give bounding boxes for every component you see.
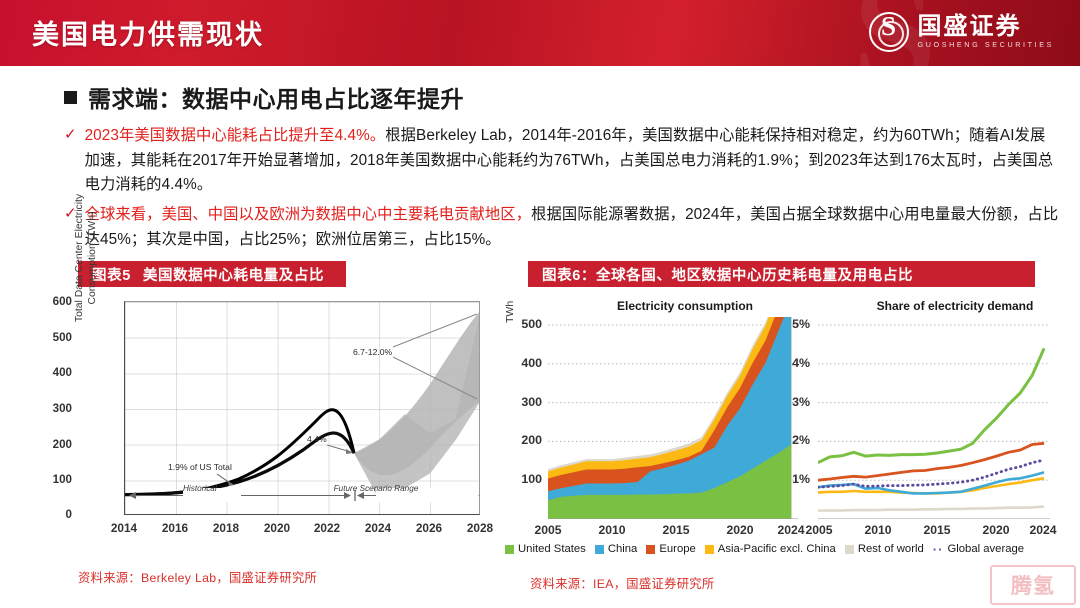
consumption-ytick-500: 500 <box>504 317 542 331</box>
share-ytick-5pct: 5% <box>784 317 810 331</box>
guosheng-logo-icon <box>869 12 909 52</box>
consumption-xtick-2005: 2005 <box>524 523 572 537</box>
legend-label-global-average: Global average <box>947 543 1024 555</box>
section-heading: 需求端：数据中心用电占比逐年提升 <box>64 80 464 114</box>
legend-item-united-states: United States <box>505 543 586 555</box>
share-ytick-4pct: 4% <box>784 356 810 370</box>
right-chart-subtitle-share: Share of electricity demand <box>810 299 1080 313</box>
left-chart-plot-area <box>124 301 480 515</box>
future-scenario-range <box>354 310 480 476</box>
future-arrow-left-icon <box>357 492 364 499</box>
legend-swatch-global-average-dotted-icon: ·· <box>933 545 944 554</box>
figure6-source: 资料来源：IEA，国盛证券研究所 <box>530 574 714 592</box>
legend-label-rest-of-world: Rest of world <box>858 543 924 555</box>
share-ytick-1pct: 1% <box>784 472 810 486</box>
consumption-ytick-300: 300 <box>504 395 542 409</box>
figure5-title: 美国数据中心耗电量及占比 <box>143 264 324 285</box>
legend-swatch-rest-of-world <box>845 545 854 554</box>
annotation-4-4pct: 4.4% <box>307 434 327 444</box>
consumption-ytick-400: 400 <box>504 356 542 370</box>
range-label-future: Future Scenario Range <box>334 484 419 493</box>
legend-swatch-china <box>595 545 604 554</box>
bullet-highlight-1: 2023年美国数据中心能耗占比提升至4.4%。 <box>85 127 386 144</box>
legend-swatch-europe <box>646 545 655 554</box>
share-xtick-2005: 2005 <box>795 523 843 537</box>
left-ytick-0: 0 <box>32 508 72 521</box>
line-rest-of-world <box>818 507 1044 511</box>
left-xtick-2024: 2024 <box>355 521 401 535</box>
consumption-xtick-2020: 2020 <box>716 523 764 537</box>
share-xtick-2015: 2015 <box>913 523 961 537</box>
right-chart-subtitle-consumption: Electricity consumption <box>540 299 830 313</box>
share-lines-svg <box>818 317 1060 519</box>
consumption-xtick-2010: 2010 <box>588 523 636 537</box>
share-ytick-2pct: 2% <box>784 433 810 447</box>
legend-item-rest-of-world: Rest of world <box>845 543 924 555</box>
left-xtick-2014: 2014 <box>101 521 147 535</box>
range-label-historical: Historical <box>183 484 217 493</box>
figure6-title: 图表6：全球各国、地区数据中心历史耗电量及用电占比 <box>542 264 913 285</box>
legend-label-asia-pacific: Asia-Pacific excl. China <box>718 543 836 555</box>
header-divider <box>0 66 1080 69</box>
legend-swatch-united-states <box>505 545 514 554</box>
legend-label-china: China <box>608 543 638 555</box>
page-title: 美国电力供需现状 <box>32 13 264 52</box>
consumption-xtick-2015: 2015 <box>652 523 700 537</box>
bullet-text-1: 2023年美国数据中心能耗占比提升至4.4%。根据Berkeley Lab，20… <box>85 124 1060 198</box>
share-xtick-2024: 2024 <box>1019 523 1067 537</box>
check-icon: ✓ <box>64 124 77 145</box>
left-xtick-2026: 2026 <box>406 521 452 535</box>
chart-legend: United States China Europe Asia-Pacific … <box>505 543 1070 555</box>
section-bullet-square-icon <box>64 91 77 104</box>
stacked-area-svg <box>548 317 810 519</box>
figure5-source: 资料来源：Berkeley Lab，国盛证券研究所 <box>78 568 317 586</box>
share-ytick-3pct: 3% <box>784 395 810 409</box>
share-xtick-2010: 2010 <box>854 523 902 537</box>
left-xtick-2018: 2018 <box>203 521 249 535</box>
legend-item-europe: Europe <box>646 543 695 555</box>
left-ytick-100: 100 <box>32 473 72 486</box>
page-watermark: 腾氢 <box>990 565 1076 605</box>
section-heading-text: 需求端：数据中心用电占比逐年提升 <box>88 80 464 114</box>
legend-item-global-average: ·· Global average <box>933 543 1024 555</box>
consumption-ytick-100: 100 <box>504 472 542 486</box>
left-xtick-2022: 2022 <box>304 521 350 535</box>
consumption-ytick-200: 200 <box>504 433 542 447</box>
left-xtick-2020: 2020 <box>254 521 300 535</box>
line-europe-fix <box>818 443 1044 480</box>
share-xtick-2020: 2020 <box>972 523 1020 537</box>
figure5-banner: 图表5美国数据中心耗电量及占比 <box>78 261 346 287</box>
brand-logo: 国盛证券 GUOSHENG SECURITIES <box>869 12 1054 52</box>
left-ytick-300: 300 <box>32 402 72 415</box>
slide-root: S 美国电力供需现状 国盛证券 GUOSHENG SECURITIES 需求端：… <box>0 0 1080 608</box>
left-chart-svg <box>125 302 480 515</box>
left-chart-y-axis-label: Total Data Center Electricity Consumptio… <box>74 183 99 333</box>
left-ytick-600: 600 <box>32 295 72 308</box>
stacked-area-plot <box>548 317 810 519</box>
logo-name-cn: 国盛证券 <box>918 15 1054 40</box>
slide-header: S 美国电力供需现状 国盛证券 GUOSHENG SECURITIES <box>0 0 1080 66</box>
left-xtick-2016: 2016 <box>152 521 198 535</box>
annotation-6-7-12pct: 6.7-12.0% <box>353 347 392 357</box>
legend-label-united-states: United States <box>518 543 586 555</box>
left-ytick-200: 200 <box>32 438 72 451</box>
gridlines <box>818 325 1050 480</box>
share-lines-plot <box>818 317 1060 519</box>
line-united-states <box>818 348 1044 462</box>
legend-swatch-asia-pacific <box>705 545 714 554</box>
left-xtick-2028: 2028 <box>457 521 503 535</box>
legend-label-europe: Europe <box>659 543 695 555</box>
legend-item-china: China <box>595 543 638 555</box>
figure6-banner: 图表6：全球各国、地区数据中心历史耗电量及用电占比 <box>528 261 1035 287</box>
left-ytick-400: 400 <box>32 366 72 379</box>
annotation-us-total: 1.9% of US Total <box>168 462 232 472</box>
hist-arrow-right-icon <box>344 492 351 499</box>
logo-name-en: GUOSHENG SECURITIES <box>918 40 1054 50</box>
bullet-text-2: 全球来看，美国、中国以及欧洲为数据中心中主要耗电贡献地区，根据国际能源署数据，2… <box>85 203 1060 252</box>
left-ytick-500: 500 <box>32 331 72 344</box>
figure6-chart: Electricity consumption Share of electri… <box>500 295 1070 565</box>
figure5-chart: Total Data Center Electricity Consumptio… <box>76 295 506 553</box>
bullet-item-1: ✓ 2023年美国数据中心能耗占比提升至4.4%。根据Berkeley Lab，… <box>64 124 1060 198</box>
bullet-item-2: ✓ 全球来看，美国、中国以及欧洲为数据中心中主要耗电贡献地区，根据国际能源署数据… <box>64 203 1060 252</box>
legend-item-asia-pacific: Asia-Pacific excl. China <box>705 543 836 555</box>
bullet-highlight-2: 全球来看，美国、中国以及欧洲为数据中心中主要耗电贡献地区， <box>85 206 532 223</box>
